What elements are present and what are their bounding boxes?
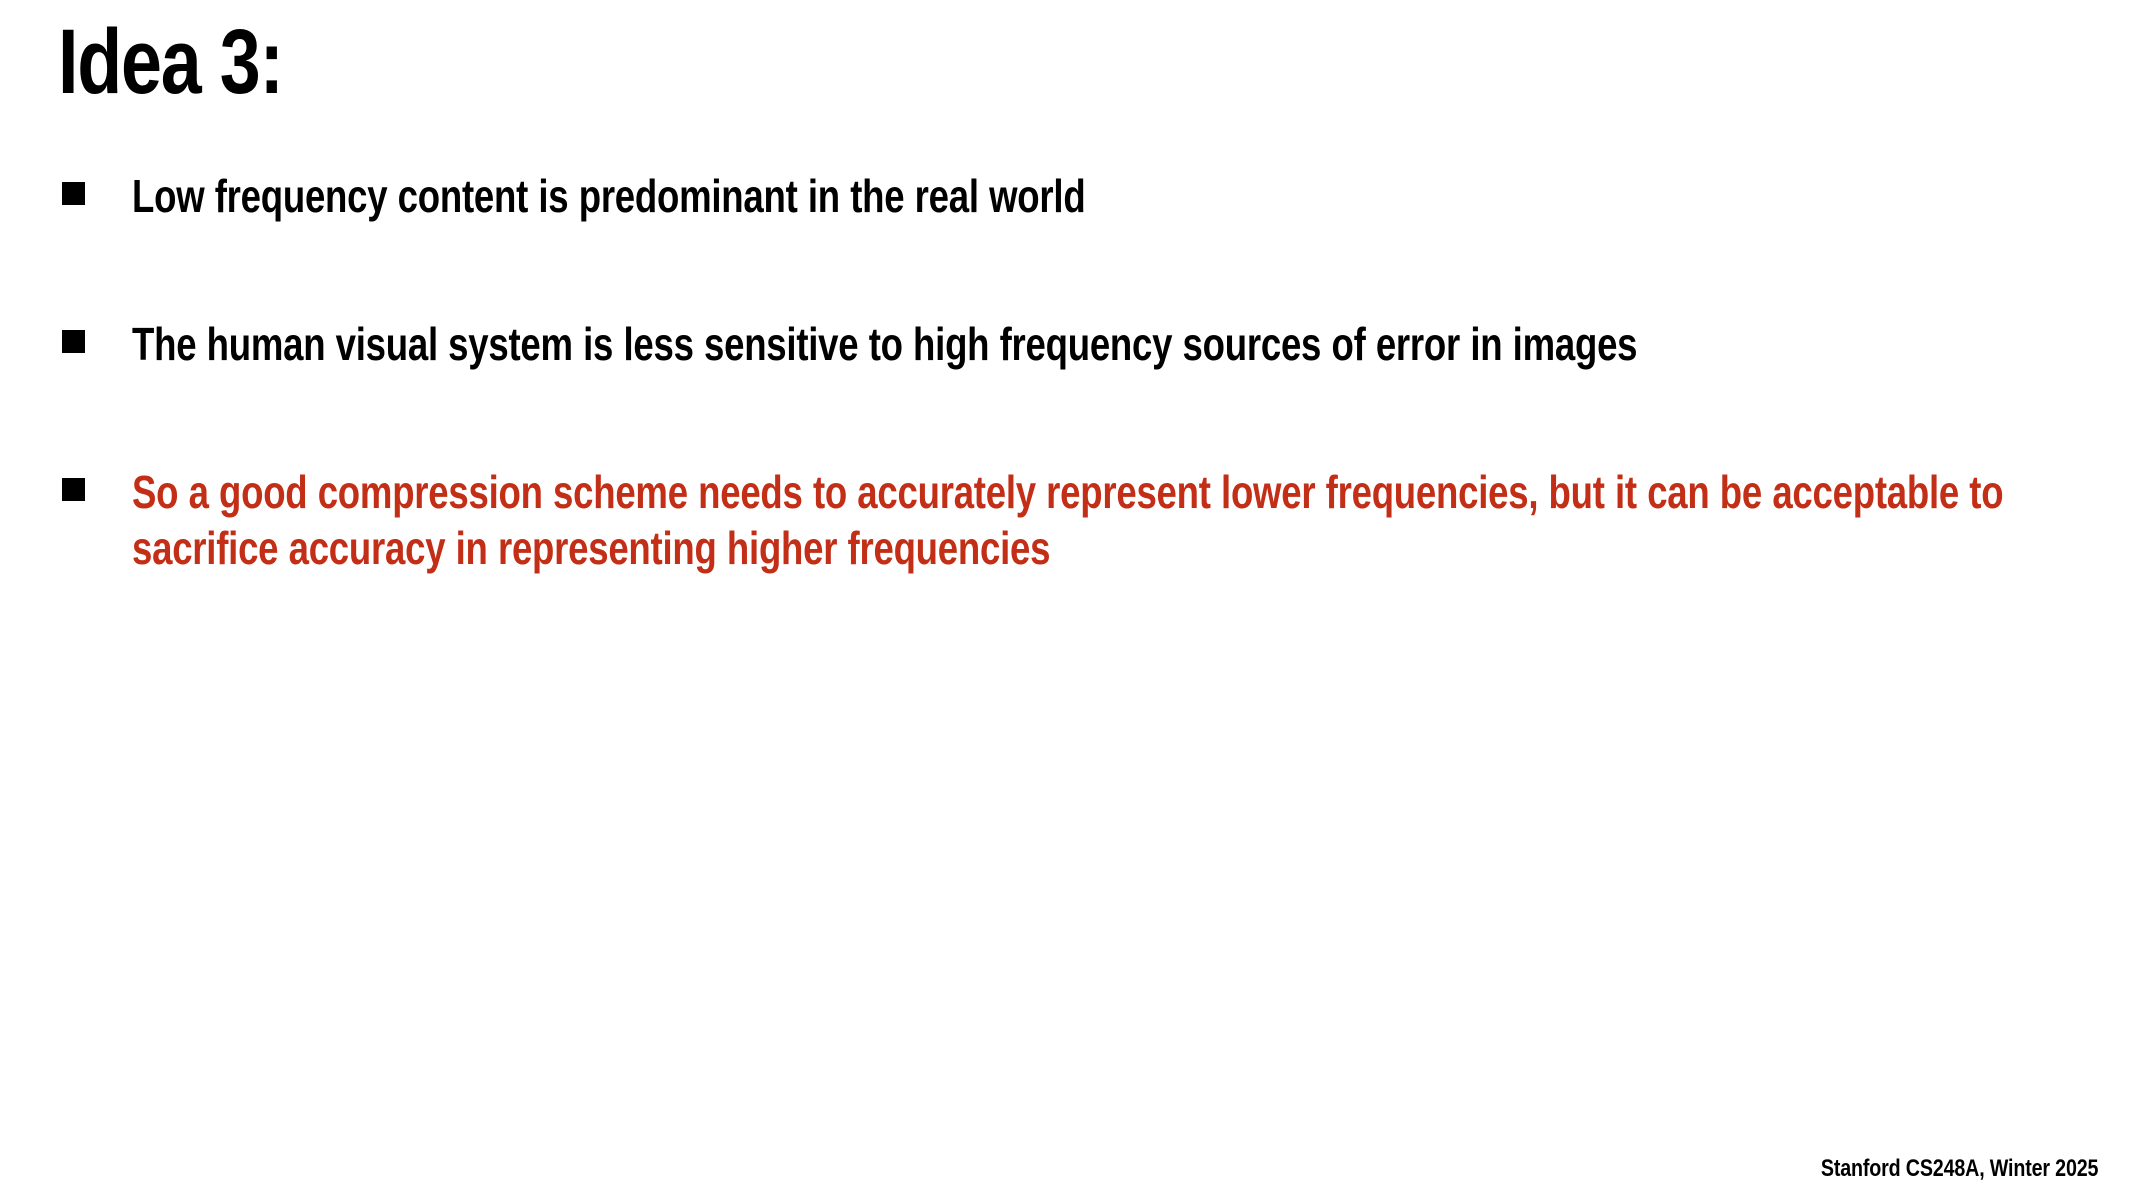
list-item: The human visual system is less sensitiv… [62,316,2102,372]
list-item-body: Low frequency content is predominant in … [132,168,2102,224]
page-title: Idea 3: [58,14,283,111]
slide-footer: Stanford CS248A, Winter 2025 [1821,1157,2098,1181]
list-item-label-emphasis: So a good compression scheme needs to ac… [132,464,2102,576]
list-item-label: The human visual system is less sensitiv… [132,316,2102,372]
list-item-label: Low frequency content is predominant in … [132,168,2102,224]
slide-canvas: Idea 3: Low frequency content is predomi… [0,0,2133,1200]
list-item-body: The human visual system is less sensitiv… [132,316,2102,372]
square-bullet-icon [62,330,85,353]
square-bullet-icon [62,478,85,501]
list-item: Low frequency content is predominant in … [62,168,2102,224]
list-item: So a good compression scheme needs to ac… [62,464,2102,576]
list-item-body: So a good compression scheme needs to ac… [132,464,2102,576]
square-bullet-icon [62,182,85,205]
bullet-list: Low frequency content is predominant in … [62,168,2102,576]
